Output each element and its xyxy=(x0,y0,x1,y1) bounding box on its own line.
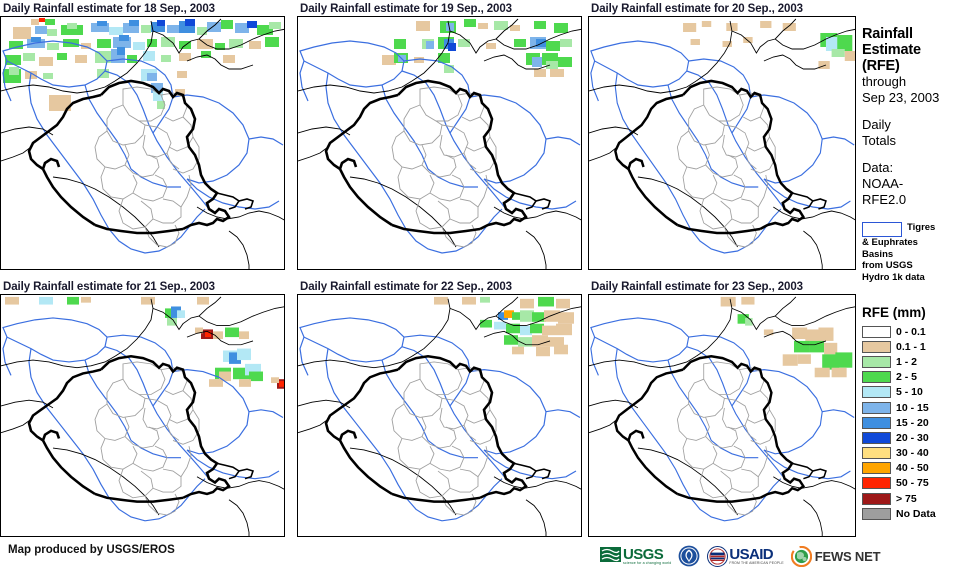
basin-label-line3: Basins xyxy=(862,249,967,261)
legend-row: 10 - 15 xyxy=(862,400,967,415)
rail-title-line3: (RFE) xyxy=(862,58,967,74)
legend-swatch xyxy=(862,493,891,505)
legend-swatch xyxy=(862,508,891,520)
map-panel-19sep[interactable]: Daily Rainfall estimate for 19 Sep., 200… xyxy=(297,2,585,270)
rfe-legend: 0 - 0.10.1 - 11 - 22 - 55 - 1010 - 1515 … xyxy=(862,324,967,521)
rail-data-line3: RFE2.0 xyxy=(862,192,967,208)
legend-swatch xyxy=(862,386,891,398)
map-svg-22sep xyxy=(298,295,582,537)
legend-row: 40 - 50 xyxy=(862,461,967,476)
map-svg-18sep xyxy=(1,17,285,270)
fews-net-logo[interactable]: FEWS NET xyxy=(791,546,881,567)
basin-label-line2: & Euphrates xyxy=(862,237,967,249)
map-panel-21sep[interactable]: Daily Rainfall estimate for 21 Sep., 200… xyxy=(0,280,288,537)
panel-title: Daily Rainfall estimate for 20 Sep., 200… xyxy=(588,2,860,16)
map-canvas[interactable] xyxy=(588,16,856,270)
map-credit: Map produced by USGS/EROS xyxy=(8,544,175,556)
rail-through-date: Sep 23, 2003 xyxy=(862,90,967,106)
legend-label: 5 - 10 xyxy=(896,386,923,398)
basin-label-line4: from USGS xyxy=(862,260,967,272)
rail-title-line2: Estimate xyxy=(862,42,967,58)
legend-row: 20 - 30 xyxy=(862,430,967,445)
legend-label: 50 - 75 xyxy=(896,477,929,489)
legend-swatch xyxy=(862,477,891,489)
agency-logos: USGS science for a changing world xyxy=(600,541,880,571)
noaa-seal-icon xyxy=(678,545,700,567)
legend-row: 0.1 - 1 xyxy=(862,339,967,354)
map-svg-23sep xyxy=(589,295,856,537)
rail-data-line2: NOAA- xyxy=(862,176,967,192)
usaid-seal-icon xyxy=(707,546,728,567)
legend-row: 30 - 40 xyxy=(862,446,967,461)
map-canvas[interactable] xyxy=(297,16,582,270)
info-rail: Rainfall Estimate (RFE) through Sep 23, … xyxy=(862,0,967,576)
basin-legend: Tigres xyxy=(862,222,967,237)
legend-row: 2 - 5 xyxy=(862,370,967,385)
usaid-tagline: FROM THE AMERICAN PEOPLE xyxy=(729,561,783,565)
legend-label: 40 - 50 xyxy=(896,462,929,474)
map-svg-20sep xyxy=(589,17,856,270)
legend-label: 15 - 20 xyxy=(896,417,929,429)
map-canvas[interactable] xyxy=(0,16,285,270)
legend-swatch xyxy=(862,371,891,383)
legend-row: 50 - 75 xyxy=(862,476,967,491)
legend-swatch xyxy=(862,356,891,368)
legend-label: 10 - 15 xyxy=(896,402,929,414)
usgs-tagline: science for a changing world xyxy=(623,561,671,565)
legend-label: 2 - 5 xyxy=(896,371,917,383)
rail-totals-line1: Daily xyxy=(862,117,967,133)
panel-title: Daily Rainfall estimate for 23 Sep., 200… xyxy=(588,280,860,294)
map-canvas[interactable] xyxy=(297,294,582,537)
legend-row: 1 - 2 xyxy=(862,354,967,369)
legend-row: 0 - 0.1 xyxy=(862,324,967,339)
rail-totals-line2: Totals xyxy=(862,133,967,149)
panel-title: Daily Rainfall estimate for 19 Sep., 200… xyxy=(297,2,585,16)
map-canvas[interactable] xyxy=(0,294,285,537)
legend-label: No Data xyxy=(896,508,936,520)
legend-label: 0.1 - 1 xyxy=(896,341,926,353)
legend-label: 20 - 30 xyxy=(896,432,929,444)
fews-net-wordmark: FEWS NET xyxy=(815,549,881,564)
usgs-logo[interactable]: USGS science for a changing world xyxy=(600,546,671,566)
legend-label: 1 - 2 xyxy=(896,356,917,368)
legend-swatch xyxy=(862,417,891,429)
legend-label: 0 - 0.1 xyxy=(896,326,926,338)
usaid-wordmark: USAID xyxy=(729,548,783,561)
legend-title: RFE (mm) xyxy=(862,305,967,320)
legend-row: 15 - 20 xyxy=(862,415,967,430)
map-panel-18sep[interactable]: Daily Rainfall estimate for 18 Sep., 200… xyxy=(0,2,288,270)
usgs-mark-icon xyxy=(600,546,622,566)
map-panel-20sep[interactable]: Daily Rainfall estimate for 20 Sep., 200… xyxy=(588,2,860,270)
map-svg-19sep xyxy=(298,17,582,270)
basin-label-line1: Tigres xyxy=(907,222,935,234)
legend-swatch xyxy=(862,447,891,459)
rail-title-line1: Rainfall xyxy=(862,26,967,42)
legend-swatch xyxy=(862,432,891,444)
map-panel-23sep[interactable]: Daily Rainfall estimate for 23 Sep., 200… xyxy=(588,280,860,537)
panel-title: Daily Rainfall estimate for 18 Sep., 200… xyxy=(0,2,288,16)
map-svg-21sep xyxy=(1,295,285,537)
rail-data-line1: Data: xyxy=(862,160,967,176)
legend-row: No Data xyxy=(862,506,967,521)
legend-swatch xyxy=(862,341,891,353)
legend-swatch xyxy=(862,462,891,474)
fews-globe-icon xyxy=(791,546,812,567)
panel-title: Daily Rainfall estimate for 21 Sep., 200… xyxy=(0,280,288,294)
legend-swatch xyxy=(862,402,891,414)
panel-title: Daily Rainfall estimate for 22 Sep., 200… xyxy=(297,280,585,294)
rail-through: through xyxy=(862,74,967,90)
legend-swatch xyxy=(862,326,891,338)
usgs-wordmark: USGS xyxy=(623,548,671,561)
map-panel-22sep[interactable]: Daily Rainfall estimate for 22 Sep., 200… xyxy=(297,280,585,537)
legend-row: > 75 xyxy=(862,491,967,506)
map-canvas[interactable] xyxy=(588,294,856,537)
basin-label-line5: Hydro 1k data xyxy=(862,272,967,284)
legend-row: 5 - 10 xyxy=(862,385,967,400)
usaid-logo[interactable]: USAID FROM THE AMERICAN PEOPLE xyxy=(707,546,783,567)
legend-label: 30 - 40 xyxy=(896,447,929,459)
noaa-logo[interactable] xyxy=(678,545,700,567)
basin-swatch xyxy=(862,222,902,237)
legend-label: > 75 xyxy=(896,493,917,505)
